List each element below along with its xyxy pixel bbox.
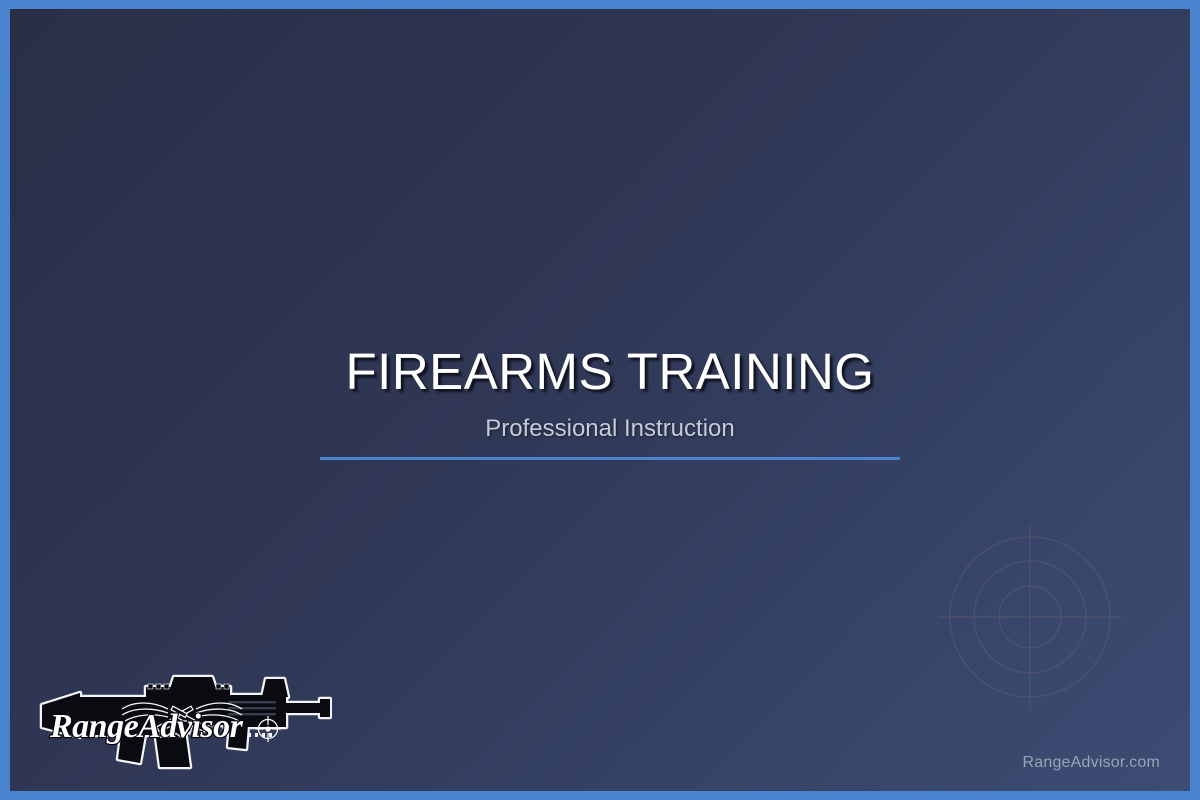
slide-frame-border: FIREARMS TRAINING Professional Instructi… bbox=[0, 0, 1200, 800]
footer-website-label: RangeAdvisor.com bbox=[1023, 754, 1161, 772]
page-subtitle: Professional Instruction bbox=[320, 414, 900, 444]
rifle-silhouette-logo-icon: RangeAdvisor bbox=[32, 671, 332, 771]
page-title: FIREARMS TRAINING bbox=[320, 341, 900, 403]
title-block: FIREARMS TRAINING Professional Instructi… bbox=[320, 341, 900, 460]
brand-wordmark: RangeAdvisor bbox=[49, 708, 244, 745]
title-accent-rule bbox=[320, 457, 900, 460]
crosshair-target-icon bbox=[930, 517, 1130, 717]
slide-canvas: FIREARMS TRAINING Professional Instructi… bbox=[10, 9, 1190, 791]
